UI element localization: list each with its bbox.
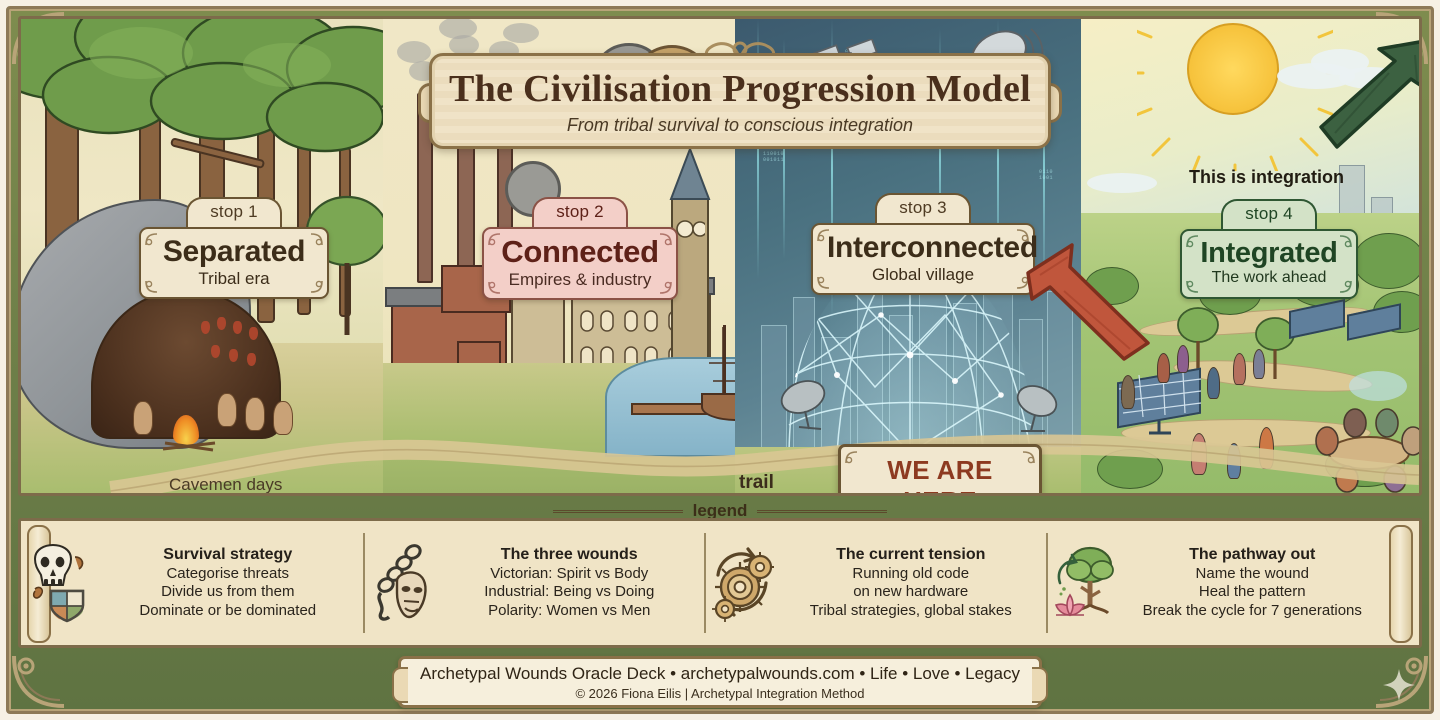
sign-corner-ornament-icon (1022, 451, 1035, 464)
page-subtitle: From tribal survival to conscious integr… (567, 115, 913, 136)
label-trail: trail (739, 472, 774, 494)
label-this-is-integration: This is integration (1189, 167, 1344, 188)
footer-credit-line: Archetypal Wounds Oracle Deck • archetyp… (420, 664, 1020, 684)
label-cavemen-days: Cavemen days (169, 475, 282, 495)
legend-line: Heal the pattern (1126, 583, 1380, 601)
title-plaque: The Civilisation Progression Model From … (429, 37, 1051, 149)
footer-ear-right (1032, 667, 1048, 703)
sign-corner-ornament-icon (817, 276, 830, 289)
stop-number-label: stop 4 (1221, 199, 1317, 229)
legend-line: Polarity: Women vs Men (443, 602, 697, 620)
legend-column-current-tension: The current tension Running old code on … (704, 521, 1046, 645)
legend-heading: The three wounds (443, 546, 697, 564)
legend-line: Tribal strategies, global stakes (784, 602, 1038, 620)
sign-corner-ornament-icon (1186, 280, 1199, 293)
sign-corner-ornament-icon (659, 281, 672, 294)
legend-line: Dominate or be dominated (101, 602, 355, 620)
legend-line: Victorian: Spirit vs Body (443, 565, 697, 583)
infographic-poster: 101100110111001 0x4F2A110010001011 01001… (0, 0, 1440, 720)
stop-title: Separated (155, 236, 313, 268)
sign-body: Separated Tribal era (139, 227, 329, 299)
sign-corner-ornament-icon (1339, 280, 1352, 293)
legend-line: on new hardware (784, 583, 1038, 601)
sign-body: Connected Empires & industry (482, 227, 678, 300)
legend-column-three-wounds: The three wounds Victorian: Spirit vs Bo… (363, 521, 705, 645)
chain-and-mask-icon (371, 543, 433, 623)
red-arrow-pointing-to-interconnected-icon (1020, 239, 1156, 361)
sun-rays-icon (1137, 19, 1333, 171)
legend-line: Name the wound (1126, 565, 1380, 583)
we-are-here-marker[interactable]: WE ARE HERE (838, 444, 1042, 496)
legend-rule-right (757, 510, 887, 513)
legend-strip: Survival strategy Categorise threats Div… (18, 518, 1422, 648)
legend-line: Running old code (784, 565, 1038, 583)
stop-title: Integrated (1196, 238, 1342, 268)
trail-path (21, 323, 1419, 493)
sign-corner-ornament-icon (1339, 235, 1352, 248)
stop-subtitle: Empires & industry (498, 270, 662, 290)
legend-line: Industrial: Being vs Doing (443, 583, 697, 601)
sign-corner-ornament-icon (845, 451, 858, 464)
sign-corner-ornament-icon (145, 280, 158, 293)
footer-ear-left (392, 667, 408, 703)
gears-cycle-icon (712, 543, 774, 623)
legend-rule-left (553, 510, 683, 513)
stop-sign-integrated[interactable]: stop 4 Integrated The work ahead (1180, 199, 1358, 299)
legend-heading: Survival strategy (101, 546, 355, 564)
sign-corner-ornament-icon (817, 229, 830, 242)
sign-body: Interconnected Global village (811, 223, 1035, 295)
stop-number-label: stop 1 (186, 197, 282, 227)
legend-text-block: The three wounds Victorian: Spirit vs Bo… (443, 546, 697, 620)
skull-and-shield-icon (29, 543, 91, 623)
stop-number-label: stop 3 (875, 193, 971, 223)
sign-corner-ornament-icon (1186, 235, 1199, 248)
legend-column-survival-strategy: Survival strategy Categorise threats Div… (21, 521, 363, 645)
legend-column-pathway-out: The pathway out Name the wound Heal the … (1046, 521, 1420, 645)
tree-and-lotus-icon (1054, 543, 1116, 623)
stop-subtitle: The work ahead (1196, 269, 1342, 287)
stop-sign-interconnected[interactable]: stop 3 Interconnected Global village (811, 193, 1035, 295)
sign-corner-ornament-icon (488, 233, 501, 246)
legend-text-block: The pathway out Name the wound Heal the … (1126, 546, 1380, 620)
title-board: The Civilisation Progression Model From … (429, 53, 1051, 149)
stop-sign-connected[interactable]: stop 2 Connected Empires & industry (482, 197, 678, 300)
legend-heading: The current tension (784, 546, 1038, 564)
legend-heading: The pathway out (1126, 546, 1380, 564)
footer-copyright-line: © 2026 Fiona Eilis | Archetypal Integrat… (575, 686, 864, 701)
stop-number-label: stop 2 (532, 197, 628, 227)
green-arrow-pointing-to-integrated-icon (1317, 35, 1422, 151)
sign-corner-ornament-icon (310, 233, 323, 246)
sign-corner-ornament-icon (659, 233, 672, 246)
we-are-here-label: WE ARE HERE (847, 455, 1033, 496)
sign-corner-ornament-icon (488, 281, 501, 294)
legend-text-block: The current tension Running old code on … (784, 546, 1038, 620)
legend-text-block: Survival strategy Categorise threats Div… (101, 546, 355, 620)
stop-subtitle: Tribal era (155, 269, 313, 289)
page-title: The Civilisation Progression Model (449, 67, 1031, 111)
stop-title: Connected (498, 236, 662, 269)
scene-illustration: 101100110111001 0x4F2A110010001011 01001… (18, 16, 1422, 496)
sign-corner-ornament-icon (145, 233, 158, 246)
legend-line: Divide us from them (101, 583, 355, 601)
stop-sign-separated[interactable]: stop 1 Separated Tribal era (139, 197, 329, 299)
sign-body: Integrated The work ahead (1180, 229, 1358, 299)
stop-title: Interconnected (827, 232, 1019, 264)
footer-bar: Archetypal Wounds Oracle Deck • archetyp… (398, 656, 1042, 708)
legend-line: Break the cycle for 7 generations (1126, 602, 1380, 620)
sign-corner-ornament-icon (310, 280, 323, 293)
sparkle-icon (1382, 668, 1416, 702)
stop-subtitle: Global village (827, 265, 1019, 285)
legend-line: Categorise threats (101, 565, 355, 583)
